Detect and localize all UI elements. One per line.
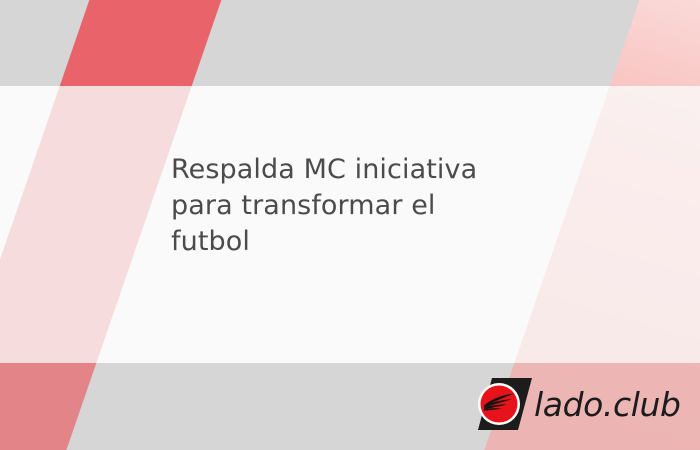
news-thumbnail-card: Respalda MC iniciativa para transformar … <box>0 0 700 450</box>
page-title: Respalda MC iniciativa para transformar … <box>171 152 571 260</box>
brand-logo[interactable]: lado.club <box>466 374 681 434</box>
lado-club-logo-icon <box>466 374 532 434</box>
brand-wordmark: lado.club <box>534 388 681 421</box>
headline-container: Respalda MC iniciativa para transformar … <box>171 152 571 260</box>
